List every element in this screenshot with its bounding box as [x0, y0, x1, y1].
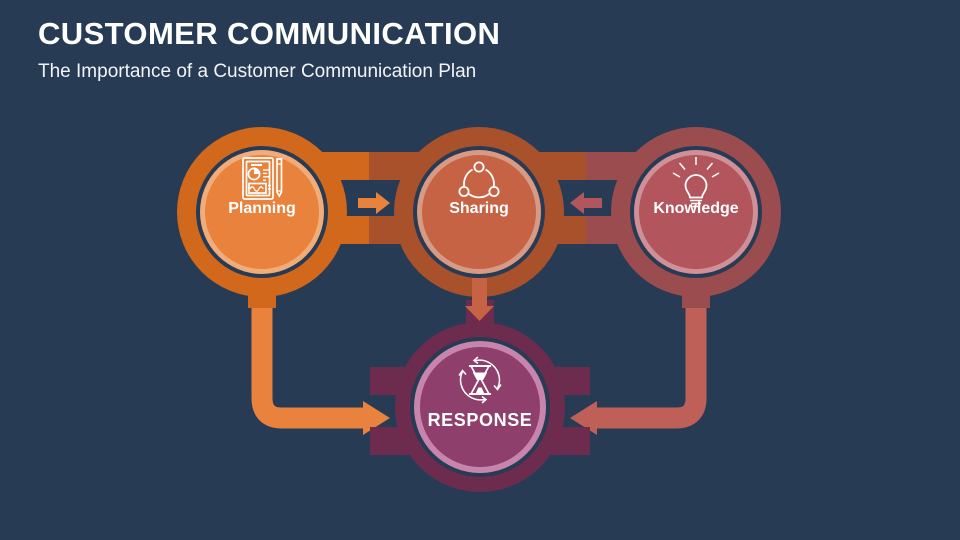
process-diagram — [0, 0, 960, 540]
node-planning[interactable] — [177, 127, 372, 308]
node-knowledge[interactable] — [586, 127, 781, 308]
node-response[interactable] — [370, 300, 590, 492]
knowledge-inner-disc — [639, 155, 753, 269]
connector-planning-to-sharing — [358, 192, 390, 214]
connector-knowledge-to-sharing — [570, 192, 602, 214]
planning-inner-disc — [205, 155, 319, 269]
node-sharing[interactable] — [369, 127, 589, 297]
slide-canvas: CUSTOMER COMMUNICATION The Importance of… — [0, 0, 960, 540]
